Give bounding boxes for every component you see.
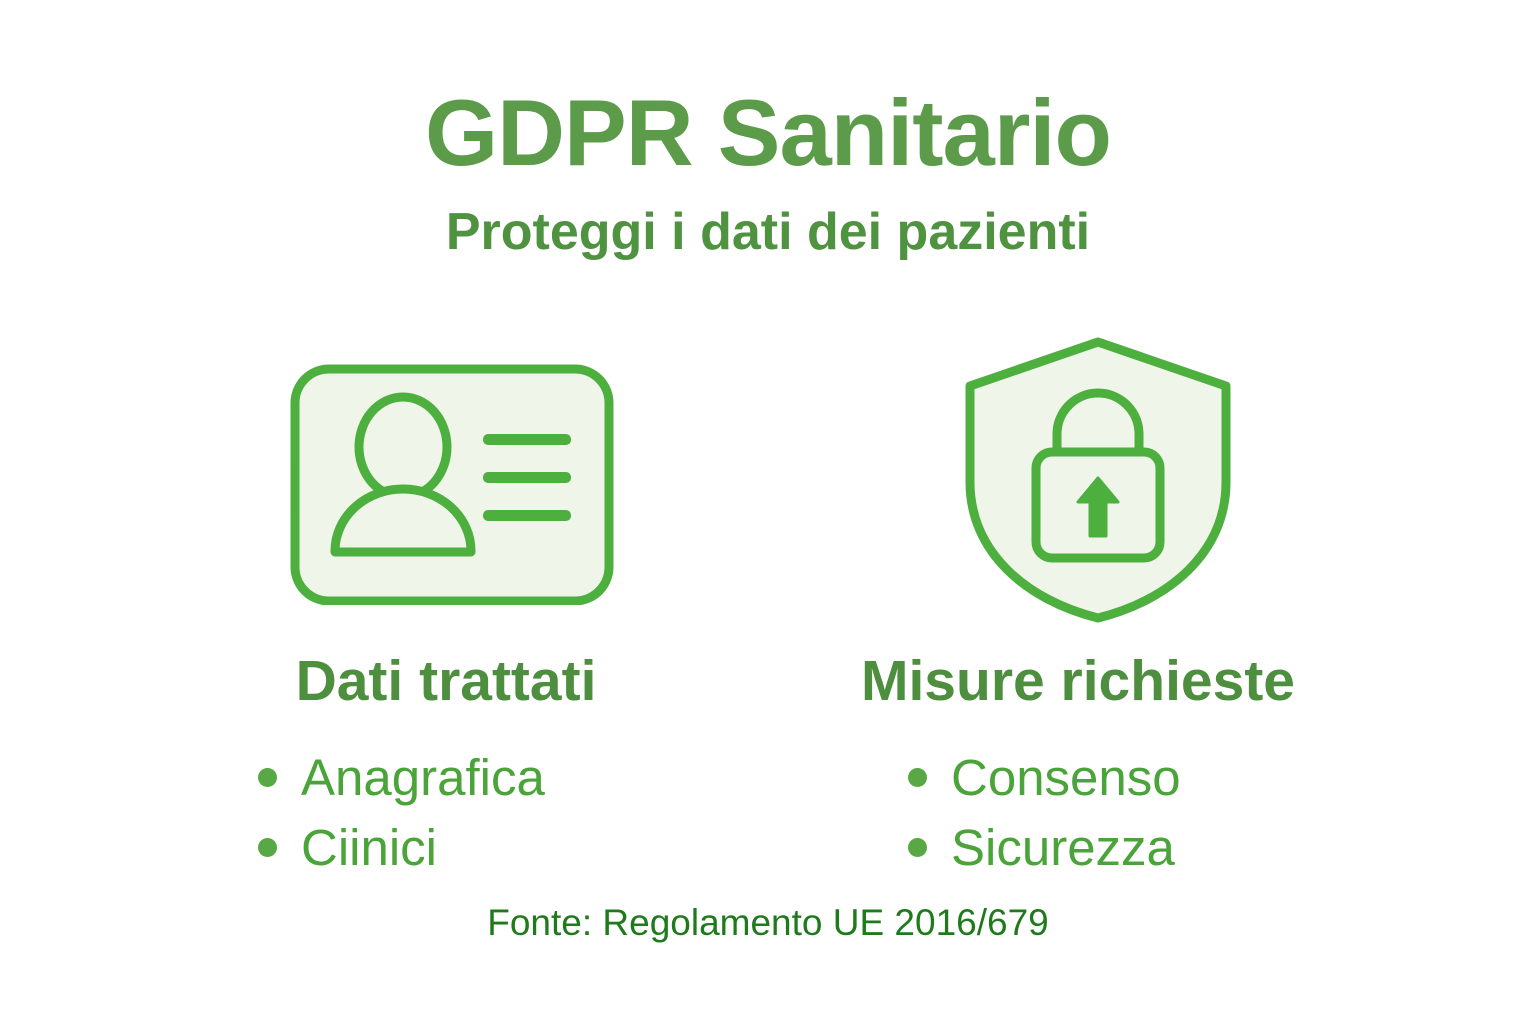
list-item: Consenso [908,742,1360,812]
shield-lock-icon [960,334,1236,626]
column-misure-richieste: Misure richieste Consenso Sicurezza [760,330,1360,910]
list-item-label: Consenso [951,752,1181,803]
bullet-list-misure-richieste: Consenso Sicurezza [760,714,1360,882]
list-item: Anagrafica [258,742,746,812]
column-heading-misure-richieste: Misure richieste [760,630,1360,714]
list-item-label: Anagrafica [301,752,545,803]
list-item: Ciinici [258,812,746,882]
shield-lock-icon-wrap [760,330,1398,630]
header: GDPR Sanitario Proteggi i dati dei pazie… [0,86,1536,258]
footer: Fonte: Regolamento UE 2016/679 [0,902,1536,944]
column-dati-trattati: Dati trattati Anagrafica Ciinici [146,330,746,910]
page-subtitle: Proteggi i dati dei pazienti [0,180,1536,258]
id-card-icon-wrap [146,330,752,630]
list-item-label: Ciinici [301,822,437,873]
id-card-icon [287,355,617,605]
list-item-label: Sicurezza [951,822,1175,873]
columns-container: Dati trattati Anagrafica Ciinici [0,330,1536,910]
infographic-poster: GDPR Sanitario Proteggi i dati dei pazie… [0,0,1536,1024]
bullet-dot-icon [258,768,277,787]
bullet-dot-icon [908,838,927,857]
bullet-dot-icon [258,838,277,857]
column-heading-dati-trattati: Dati trattati [146,630,746,714]
page-title: GDPR Sanitario [0,86,1536,180]
source-note: Fonte: Regolamento UE 2016/679 [0,902,1536,944]
list-item: Sicurezza [908,812,1360,882]
bullet-list-dati-trattati: Anagrafica Ciinici [146,714,746,882]
bullet-dot-icon [908,768,927,787]
